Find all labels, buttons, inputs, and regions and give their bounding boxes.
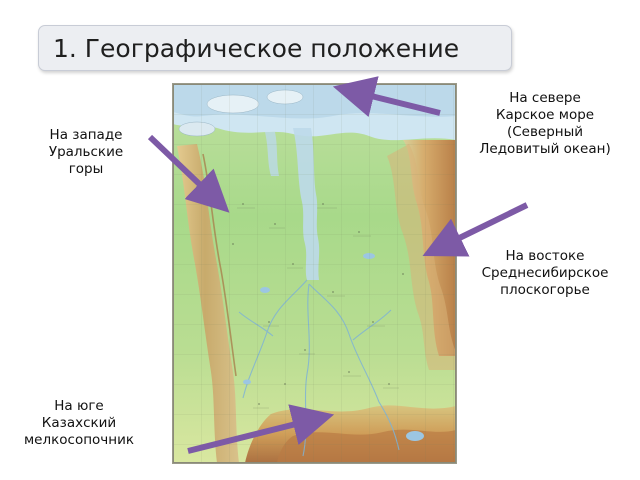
page-title: 1. Географическое положение (53, 34, 459, 63)
label-west: На западе Уральские горы (10, 127, 162, 178)
physical-map-image (173, 84, 456, 463)
slide: 1. Географическое положение (0, 0, 640, 480)
slide-title-box: 1. Географическое положение (38, 25, 512, 71)
label-south: На юге Казахский мелкосопочник (0, 398, 158, 449)
label-north: На севере Карское море (Северный Ледовит… (452, 90, 638, 158)
map-frame (172, 83, 457, 464)
label-east: На востоке Среднесибирское плоскогорье (452, 248, 638, 299)
